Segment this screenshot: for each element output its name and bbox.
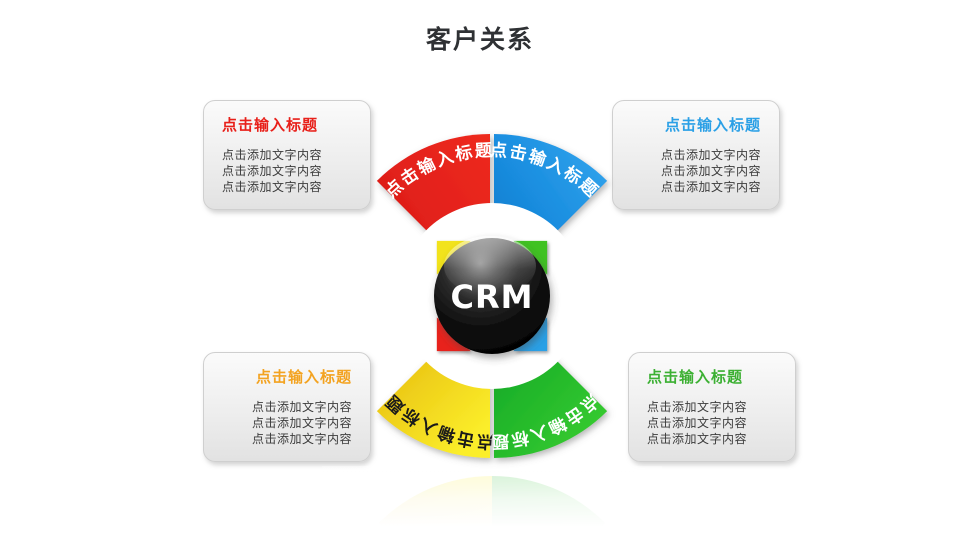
- card-line: 点击添加文字内容: [647, 415, 777, 431]
- card-line: 点击添加文字内容: [647, 431, 777, 447]
- crm-wheel-diagram: 点击输入标题 点击输入标题 点击输入标题 点击输入标题: [322, 126, 662, 526]
- card-line: 点击添加文字内容: [647, 399, 777, 415]
- crm-label: CRM: [451, 278, 534, 316]
- wheel-reflection: [322, 466, 662, 526]
- page-title: 客户关系: [0, 24, 960, 56]
- card-title-bottom-right: 点击输入标题: [647, 367, 777, 387]
- slide-canvas: 客户关系 点击输入标题 点击添加文字内容 点击添加文字内容 点击添加文字内容 点…: [0, 0, 960, 540]
- card-body-bottom-right: 点击添加文字内容 点击添加文字内容 点击添加文字内容: [647, 399, 777, 447]
